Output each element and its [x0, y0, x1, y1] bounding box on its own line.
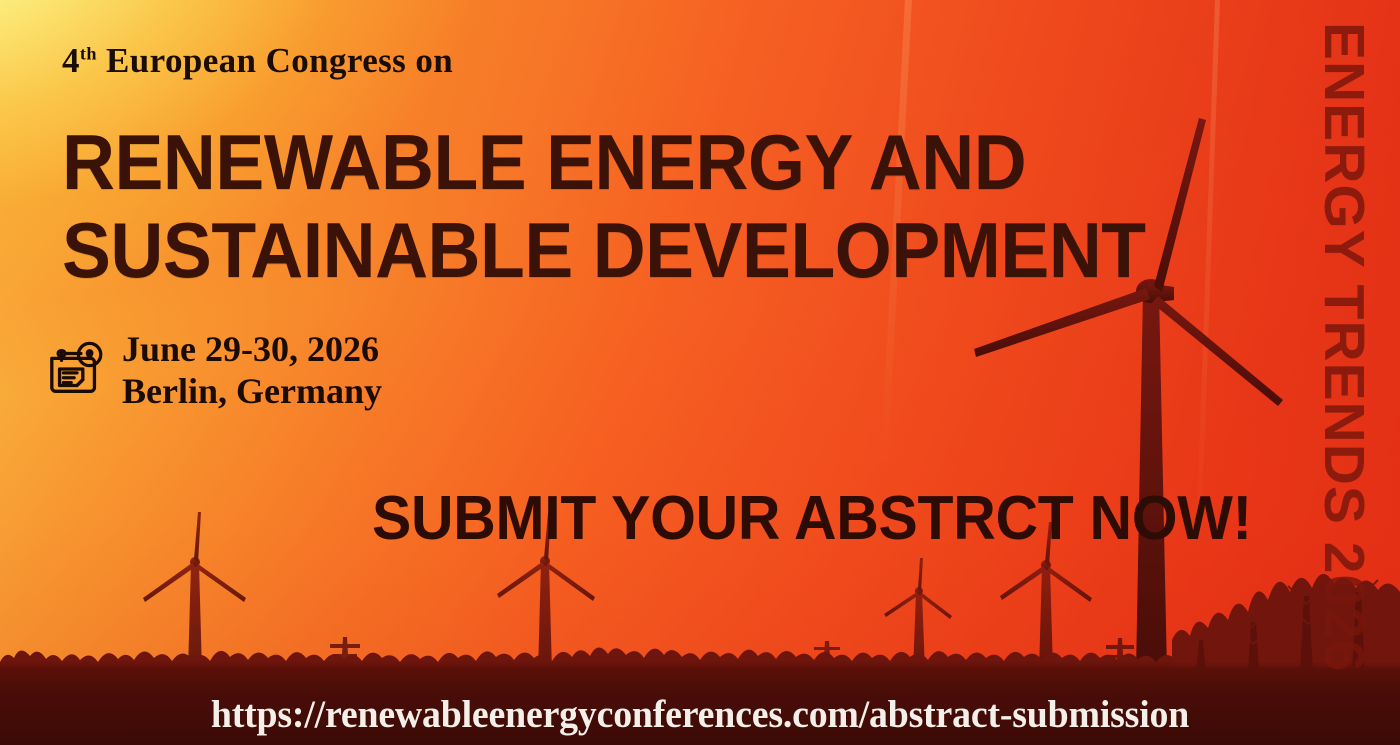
conference-banner: 4th European Congress on RENEWABLE ENERG… — [0, 0, 1400, 745]
congress-ordinal-line: 4th European Congress on — [62, 41, 453, 81]
event-details-text: June 29-30, 2026 Berlin, Germany — [122, 328, 382, 413]
event-date: June 29-30, 2026 — [122, 328, 382, 370]
conference-title-line-1: RENEWABLE ENERGY AND — [62, 117, 1026, 208]
congress-ordinal-number: 4 — [62, 41, 80, 80]
vertical-theme-tag-label: ENERGY TRENDS 2026 — [1296, 22, 1392, 673]
calendar-location-icon — [46, 339, 108, 401]
call-to-action-text: SUBMIT YOUR ABSTRCT NOW! — [372, 483, 1252, 554]
conference-title-line-2: SUSTAINABLE DEVELOPMENT — [62, 205, 1146, 296]
event-location: Berlin, Germany — [122, 370, 382, 412]
vertical-theme-tag: ENERGY TRENDS 2026 — [1296, 22, 1392, 542]
congress-eyebrow-rest: European Congress on — [97, 41, 453, 80]
event-details-block: June 29-30, 2026 Berlin, Germany — [46, 328, 382, 413]
banner-content: 4th European Congress on RENEWABLE ENERG… — [0, 0, 1400, 745]
submission-url[interactable]: https://renewableenergyconferences.com/a… — [21, 692, 1379, 737]
congress-ordinal-suffix: th — [80, 43, 97, 63]
